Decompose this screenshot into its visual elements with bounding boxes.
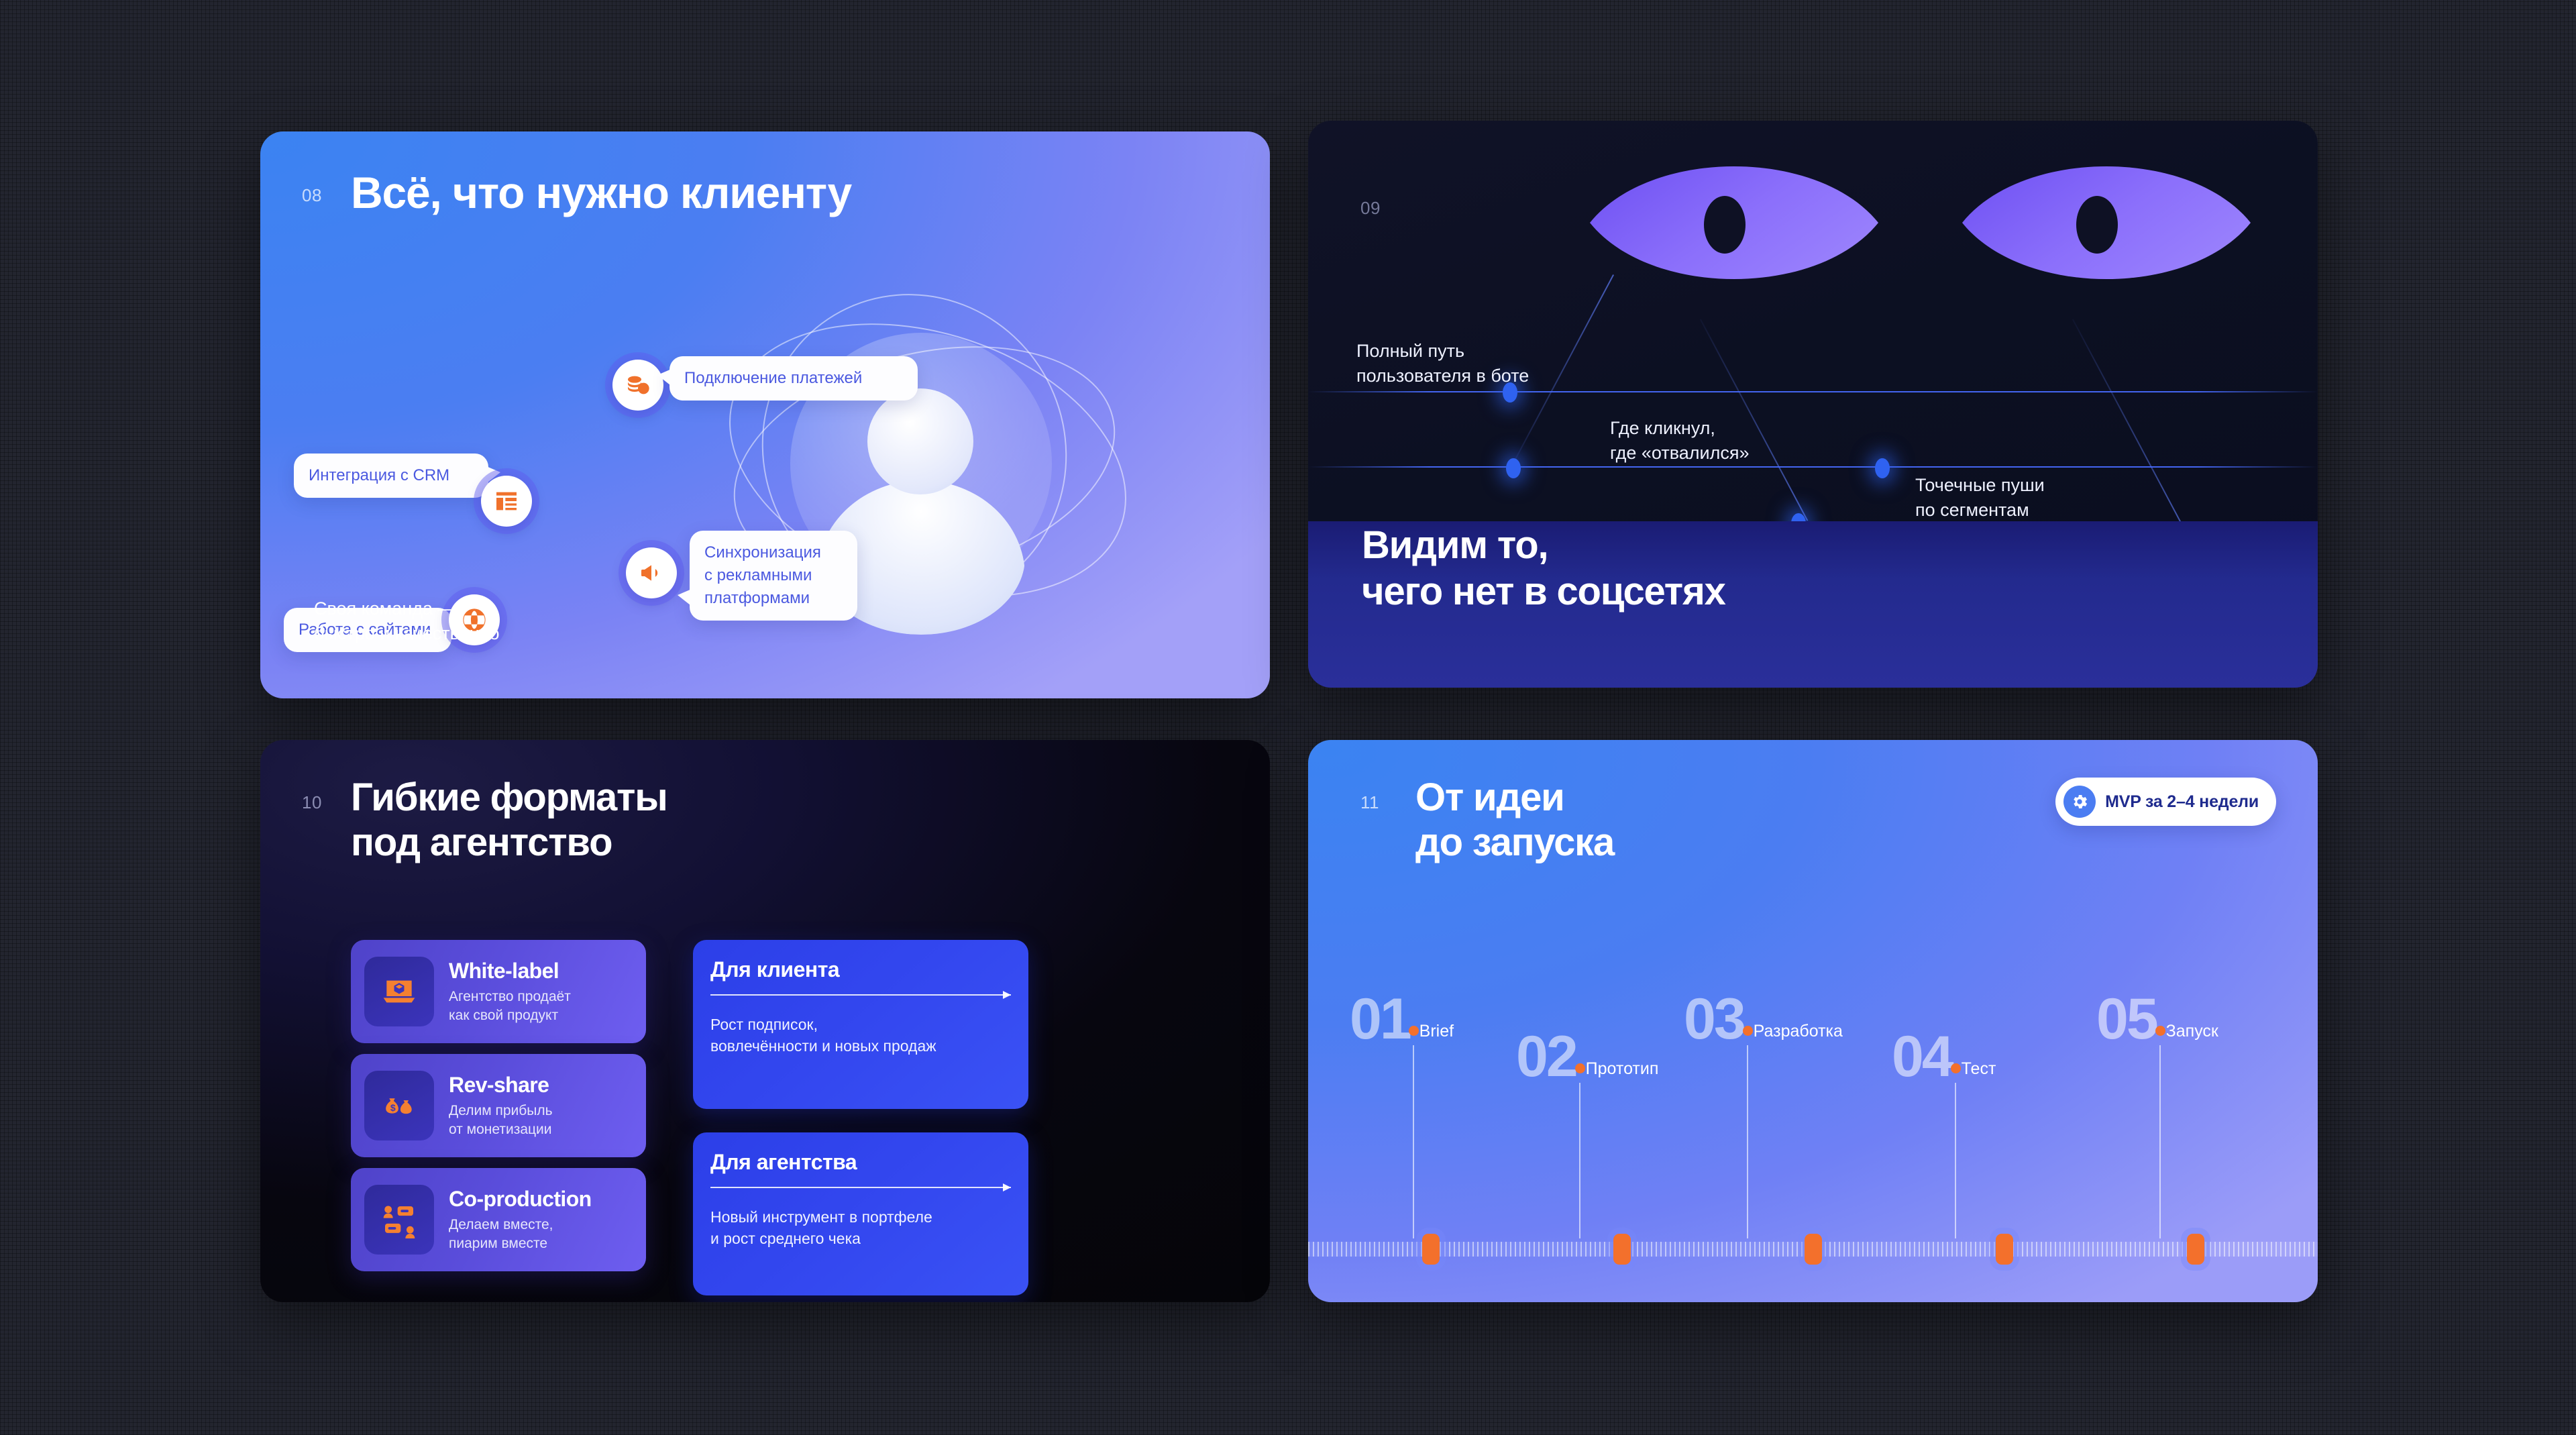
step-number: 03 — [1684, 994, 1744, 1045]
card-description: Делаем вместе, пиарим вместе — [449, 1216, 592, 1253]
format-card-white-label[interactable]: White-label Агентство продаёт как свой п… — [351, 940, 646, 1043]
format-card-rev-share[interactable]: $ Rev-share Делим прибыль от монетизации — [351, 1054, 646, 1157]
slide-title: Гибкие форматы под агентство — [351, 775, 667, 865]
card-heading: Co-production — [449, 1187, 592, 1212]
step-dot — [1575, 1063, 1585, 1073]
benefit-card-client[interactable]: Для клиента Рост подписок, вовлечённости… — [693, 940, 1028, 1109]
people-chat-icon — [364, 1185, 434, 1255]
step-stem — [1955, 1083, 1956, 1238]
laptop-box-icon — [364, 957, 434, 1026]
step-number: 01 — [1350, 994, 1410, 1045]
timeline-step-05[interactable]: 05 Запуск — [2096, 994, 2157, 1045]
rail-marker[interactable] — [2187, 1234, 2204, 1265]
slide-number: 10 — [302, 792, 322, 813]
card-heading: Rev-share — [449, 1073, 553, 1098]
card-description: Рост подписок, вовлечённости и новых про… — [710, 1014, 1011, 1057]
step-dot — [1951, 1063, 1961, 1073]
gear-icon — [2063, 786, 2096, 818]
presentation-board: 08 Всё, что нужно клиенту Интеграция с C… — [0, 0, 2576, 1435]
card-description: Делим прибыль от монетизации — [449, 1102, 553, 1138]
timeline-step-01[interactable]: 01 Brief — [1350, 994, 1410, 1045]
step-label: Brief — [1419, 1022, 1454, 1041]
step-label: Тест — [1962, 1059, 1996, 1079]
card-description: Агентство продаёт как свой продукт — [449, 988, 571, 1024]
card-heading: Для агентства — [710, 1150, 1011, 1175]
coins-icon — [612, 360, 663, 411]
mvp-badge[interactable]: MVP за 2–4 недели — [2055, 778, 2276, 826]
slide-subtitle: Своя команда — быстро и качественно — [314, 596, 500, 647]
step-dot — [1743, 1026, 1753, 1036]
step-number: 05 — [2096, 994, 2157, 1045]
step-number: 04 — [1892, 1031, 1952, 1083]
insight-label-path: Полный путь пользователя в боте — [1356, 339, 1529, 389]
step-stem — [1579, 1083, 1580, 1238]
arrow-right-icon — [710, 1187, 1011, 1188]
rail-marker[interactable] — [1422, 1234, 1440, 1265]
slide-title: Всё, что нужно клиенту — [351, 167, 851, 219]
mvp-badge-label: MVP за 2–4 недели — [2105, 792, 2259, 812]
rail-marker[interactable] — [1613, 1234, 1631, 1265]
slide-08[interactable]: 08 Всё, что нужно клиенту Интеграция с C… — [260, 131, 1270, 698]
slide-number: 11 — [1360, 792, 1379, 813]
timeline-rule — [1308, 466, 2318, 468]
insight-label-push: Точечные пуши по сегментам — [1915, 473, 2045, 523]
benefit-card-agency[interactable]: Для агентства Новый инструмент в портфел… — [693, 1132, 1028, 1295]
step-dot — [2155, 1026, 2165, 1036]
feature-bubble-sync[interactable]: Синхронизация с рекламными платформами — [690, 531, 857, 621]
insight-label-click: Где кликнул, где «отвалился» — [1610, 416, 1750, 466]
step-stem — [1747, 1045, 1748, 1238]
feature-bubble-payments[interactable]: Подключение платежей — [669, 356, 918, 401]
rail-marker[interactable] — [1996, 1234, 2013, 1265]
step-label: Прототип — [1586, 1059, 1659, 1079]
step-dot — [1409, 1026, 1419, 1036]
arrow-right-icon — [710, 994, 1011, 996]
money-bags-icon: $ — [364, 1071, 434, 1140]
step-label: Разработка — [1754, 1022, 1843, 1041]
trace-line — [2072, 319, 2193, 544]
person-head — [867, 388, 973, 494]
step-stem — [2159, 1045, 2161, 1238]
trace-node — [1506, 458, 1521, 478]
card-description: Новый инструмент в портфеле и рост средн… — [710, 1207, 1011, 1249]
pupil-right — [2076, 196, 2118, 254]
card-heading: White-label — [449, 959, 571, 984]
slide-number: 08 — [302, 185, 322, 206]
step-number: 02 — [1516, 1031, 1576, 1083]
timeline-step-03[interactable]: 03 Разработка — [1684, 994, 1744, 1045]
slide-title: Видим то, чего нет в соцсетях — [1362, 522, 1725, 615]
timeline-rule — [1308, 391, 2318, 392]
format-card-co-production[interactable]: Co-production Делаем вместе, пиарим вмес… — [351, 1168, 646, 1271]
slide-number: 09 — [1360, 198, 1381, 219]
megaphone-icon — [626, 547, 677, 598]
timeline-step-02[interactable]: 02 Прототип — [1516, 1031, 1576, 1083]
timeline-step-04[interactable]: 04 Тест — [1892, 1031, 1952, 1083]
card-heading: Для клиента — [710, 957, 1011, 982]
slide-09[interactable]: 09 Полный путь пользователя в боте Где к… — [1308, 121, 2318, 688]
slide-11[interactable]: 11 От идеи до запуска MVP за 2–4 недели … — [1308, 740, 2318, 1302]
slide-title: От идеи до запуска — [1415, 775, 1614, 865]
svg-text:$: $ — [390, 1102, 396, 1113]
slide-10[interactable]: 10 Гибкие форматы под агентство White-la… — [260, 740, 1270, 1302]
rail-marker[interactable] — [1805, 1234, 1822, 1265]
feature-bubble-crm[interactable]: Интеграция с CRM — [294, 454, 488, 498]
step-label: Запуск — [2166, 1022, 2218, 1041]
pupil-left — [1704, 196, 1746, 254]
crm-window-icon — [481, 476, 532, 527]
step-stem — [1413, 1045, 1414, 1238]
trace-node — [1875, 458, 1890, 478]
